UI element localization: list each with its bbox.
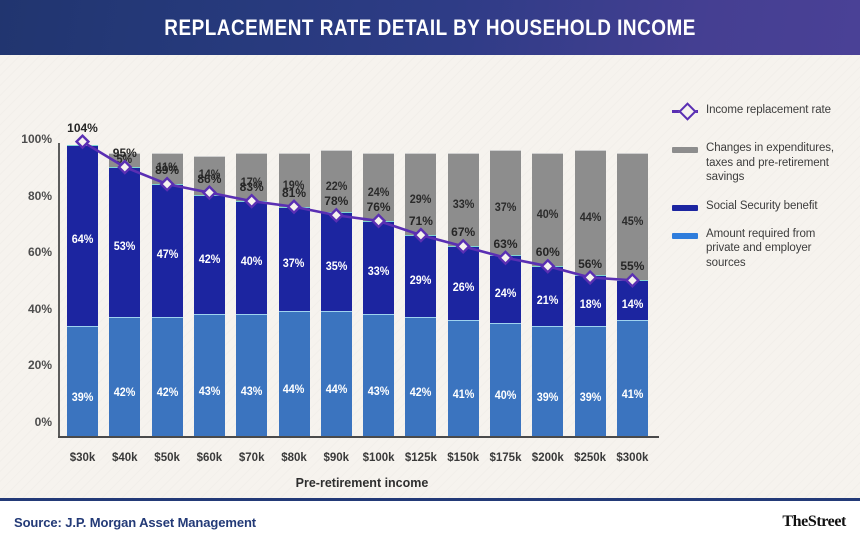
bar-segment: 44% — [279, 311, 310, 436]
bar-segment: 53% — [109, 167, 140, 317]
stacked-bar[interactable]: 43%40%17% — [236, 153, 267, 436]
y-axis-tick: 20% — [6, 358, 52, 372]
bar-segment: 18% — [575, 275, 606, 326]
bar-segment: 39% — [575, 326, 606, 436]
bar-segment: 44% — [321, 311, 352, 436]
bar-segment-label: 39% — [72, 393, 94, 405]
bar-segment-label: 40% — [537, 210, 559, 222]
bar-segment: 43% — [194, 314, 225, 436]
bar-segment: 21% — [532, 266, 563, 325]
bar-segment-label: 33% — [452, 200, 474, 212]
bar-segment-label: 40% — [495, 391, 517, 403]
bar-segment-label: 37% — [495, 203, 517, 215]
legend-label: Changes in expenditures, taxes and pre-r… — [706, 141, 852, 185]
source-note: Source: J.P. Morgan Asset Management — [14, 515, 256, 530]
stacked-bar[interactable]: 42%47%11% — [152, 153, 183, 436]
bar-segment: 35% — [321, 212, 352, 311]
bar-segment-label: 43% — [368, 387, 390, 399]
header-banner: REPLACEMENT RATE DETAIL BY HOUSEHOLD INC… — [0, 0, 860, 55]
bar-segment: 42% — [194, 195, 225, 314]
bar-segment-label: 42% — [199, 255, 221, 267]
bar-segment-label: 14% — [622, 300, 644, 312]
stacked-bar[interactable]: 43%33%24% — [363, 153, 394, 436]
stacked-bar[interactable]: 43%42%14% — [194, 156, 225, 436]
bar-segment-label: 44% — [325, 385, 347, 397]
bar-segment-label: 21% — [537, 296, 559, 308]
stacked-bar[interactable]: 44%35%22% — [321, 150, 352, 436]
bar-segment-label: 29% — [410, 195, 432, 207]
stacked-bar[interactable]: 40%24%37% — [490, 150, 521, 436]
bar-segment-label: 44% — [579, 213, 601, 225]
bar-segment-label: 37% — [283, 259, 305, 271]
y-axis-tick: 0% — [6, 415, 52, 429]
bar-segment-label: 42% — [114, 388, 136, 400]
line-point-label: 55% — [607, 259, 657, 273]
legend-label: Income replacement rate — [706, 103, 831, 119]
bar-segment-label: 41% — [622, 390, 644, 402]
bar-segment: 41% — [617, 320, 648, 436]
stacked-bar[interactable]: 42%29%29% — [405, 153, 436, 436]
bar-segment-label: 18% — [579, 300, 601, 312]
x-axis-title: Pre-retirement income — [65, 476, 659, 490]
legend-label: Amount required from private and employe… — [706, 227, 852, 271]
bar-segment: 42% — [405, 317, 436, 436]
bar-segment-label: 44% — [283, 385, 305, 397]
x-tick-label: $300k — [606, 452, 658, 464]
stacked-bar[interactable]: 39%21%40% — [532, 153, 563, 436]
bar-segment-label: 41% — [452, 390, 474, 402]
bar-segment: 14% — [617, 280, 648, 320]
bar-segment-label: 35% — [325, 262, 347, 274]
y-axis-line — [58, 143, 60, 437]
bar-segment-label: 42% — [410, 388, 432, 400]
bar-segment: 42% — [109, 317, 140, 436]
stacked-bar[interactable]: 41%14%45% — [617, 153, 648, 436]
stacked-bar[interactable]: 39%18%44% — [575, 150, 606, 436]
bar-segment-label: 40% — [241, 257, 263, 269]
page-title: REPLACEMENT RATE DETAIL BY HOUSEHOLD INC… — [164, 15, 696, 41]
bar-segment: 47% — [152, 184, 183, 317]
legend-swatch-blue-icon — [672, 227, 698, 243]
y-axis-tick: 100% — [6, 132, 52, 146]
bar-segment-label: 22% — [325, 182, 347, 194]
bar-segment: 29% — [405, 235, 436, 317]
bar-segment-label: 53% — [114, 242, 136, 254]
bar-segment: 40% — [236, 201, 267, 314]
chart-page: REPLACEMENT RATE DETAIL BY HOUSEHOLD INC… — [0, 0, 860, 543]
y-axis: 0%20%40%60%80%100% — [0, 55, 52, 498]
bar-segment: 43% — [236, 314, 267, 436]
bar-segment: 33% — [363, 221, 394, 314]
legend-swatch-gray-icon — [672, 141, 698, 157]
stacked-bar[interactable]: 39%64% — [67, 145, 98, 436]
bar-segment: 42% — [152, 317, 183, 436]
bar-segment-label: 39% — [579, 393, 601, 405]
bar-segment-label: 39% — [537, 393, 559, 405]
brand-logo: TheStreet — [782, 513, 846, 531]
bar-segment-label: 64% — [72, 235, 94, 247]
y-axis-tick: 60% — [6, 245, 52, 259]
line-point-label: 104% — [58, 121, 108, 135]
legend-item-amount-required: Amount required from private and employe… — [672, 227, 852, 271]
bar-segment: 37% — [279, 207, 310, 312]
chart-canvas: 0%20%40%60%80%100% 39%64%42%53%5%42%47%1… — [0, 55, 860, 498]
x-axis-line — [58, 436, 659, 438]
bar-segment-label: 45% — [622, 217, 644, 229]
bar-segment-label: 42% — [156, 388, 178, 400]
line-diamond-marker-icon — [672, 103, 698, 119]
bar-segment: 39% — [532, 326, 563, 436]
y-axis-tick: 80% — [6, 189, 52, 203]
legend-item-changes-in-expenditures: Changes in expenditures, taxes and pre-r… — [672, 141, 852, 185]
bar-segment-label: 33% — [368, 267, 390, 279]
bar-segment: 39% — [67, 326, 98, 436]
line-point-label: 95% — [100, 146, 150, 160]
bar-segment-label: 29% — [410, 276, 432, 288]
bar-segment: 41% — [448, 320, 479, 436]
bar-segment-label: 24% — [368, 188, 390, 200]
plot-area: 39%64%42%53%5%42%47%11%43%42%14%43%40%17… — [65, 55, 659, 498]
bar-segment-label: 24% — [495, 289, 517, 301]
legend-item-social-security-benefit: Social Security benefit — [672, 199, 852, 215]
bar-segment: 64% — [67, 145, 98, 326]
legend-swatch-darkblue-icon — [672, 199, 698, 215]
bar-segment: 24% — [490, 255, 521, 323]
bar-segment: 26% — [448, 246, 479, 320]
footer-bar: Source: J.P. Morgan Asset Management The… — [0, 501, 860, 543]
bar-segment: 40% — [490, 323, 521, 436]
bar-segment-label: 26% — [452, 283, 474, 295]
y-axis-tick: 40% — [6, 302, 52, 316]
bar-segment-label: 47% — [156, 250, 178, 262]
bar-segment-label: 43% — [199, 387, 221, 399]
bar-segment: 43% — [363, 314, 394, 436]
bar-segment-label: 43% — [241, 387, 263, 399]
line-point-label: 76% — [354, 200, 404, 214]
chart-legend: Income replacement rate Changes in expen… — [672, 103, 852, 274]
stacked-bar[interactable]: 41%26%33% — [448, 153, 479, 436]
stacked-bar[interactable]: 42%53%5% — [109, 153, 140, 436]
legend-label: Social Security benefit — [706, 199, 817, 215]
legend-item-income-replacement-rate: Income replacement rate — [672, 103, 852, 119]
